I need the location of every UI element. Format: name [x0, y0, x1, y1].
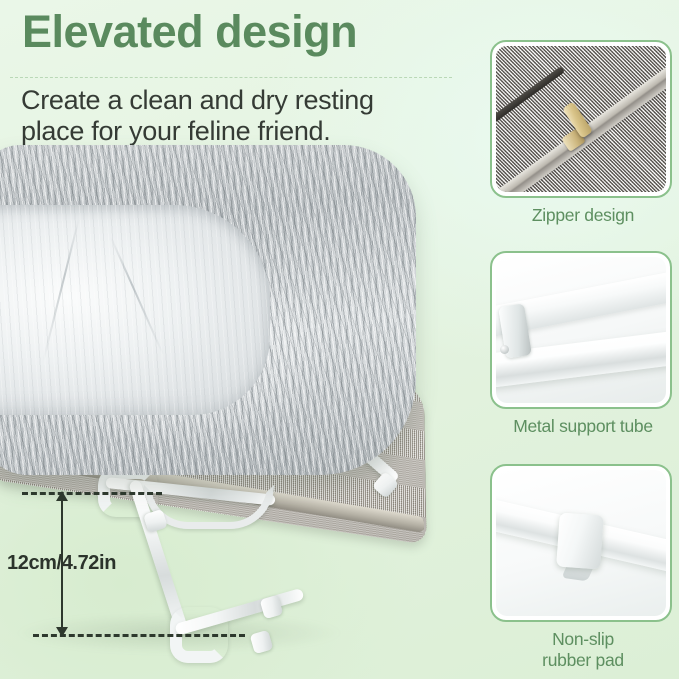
- feature-caption: Zipper design: [490, 205, 676, 226]
- feature-image-rubber-pad: [496, 470, 666, 616]
- feature-card-metal-support-tube[interactable]: Metal support tube: [490, 251, 676, 437]
- header-divider: [10, 77, 452, 78]
- feature-image-frame: [490, 251, 672, 409]
- inner-cushion: [0, 205, 270, 415]
- page-subtitle: Create a clean and dry resting place for…: [21, 85, 451, 148]
- page-title: Elevated design: [22, 6, 357, 58]
- rubber-pad: [556, 513, 604, 570]
- feature-column: Zipper design Metal support tube: [490, 0, 679, 679]
- feature-caption-line: Zipper design: [490, 205, 676, 226]
- feature-image-frame: [490, 464, 672, 622]
- dimension-guide-top: [22, 492, 162, 495]
- subtitle-line-1: Create a clean and dry resting: [21, 85, 451, 116]
- feature-image-frame: [490, 40, 672, 198]
- product-infographic: Elevated design Create a clean and dry r…: [0, 0, 679, 679]
- feature-caption-line: Non-slip: [490, 629, 676, 650]
- plush-bolster: [0, 145, 416, 475]
- feature-image-zipper: [496, 46, 666, 192]
- dimension-label: 12cm/4.72in: [7, 552, 116, 575]
- feature-card-zipper[interactable]: Zipper design: [490, 40, 676, 226]
- metal-tube-bolt-icon: [500, 345, 509, 354]
- product-photo: [0, 145, 464, 655]
- subtitle-line-2: place for your feline friend.: [21, 116, 451, 147]
- feature-caption-line: Metal support tube: [490, 416, 676, 437]
- feature-caption: Metal support tube: [490, 416, 676, 437]
- feature-card-non-slip-rubber-pad[interactable]: Non-slip rubber pad: [490, 464, 676, 670]
- feature-caption: Non-slip rubber pad: [490, 629, 676, 670]
- feature-caption-line: rubber pad: [490, 650, 676, 671]
- cushion-nap-texture: [0, 205, 270, 415]
- feature-image-metal-tube: [496, 257, 666, 403]
